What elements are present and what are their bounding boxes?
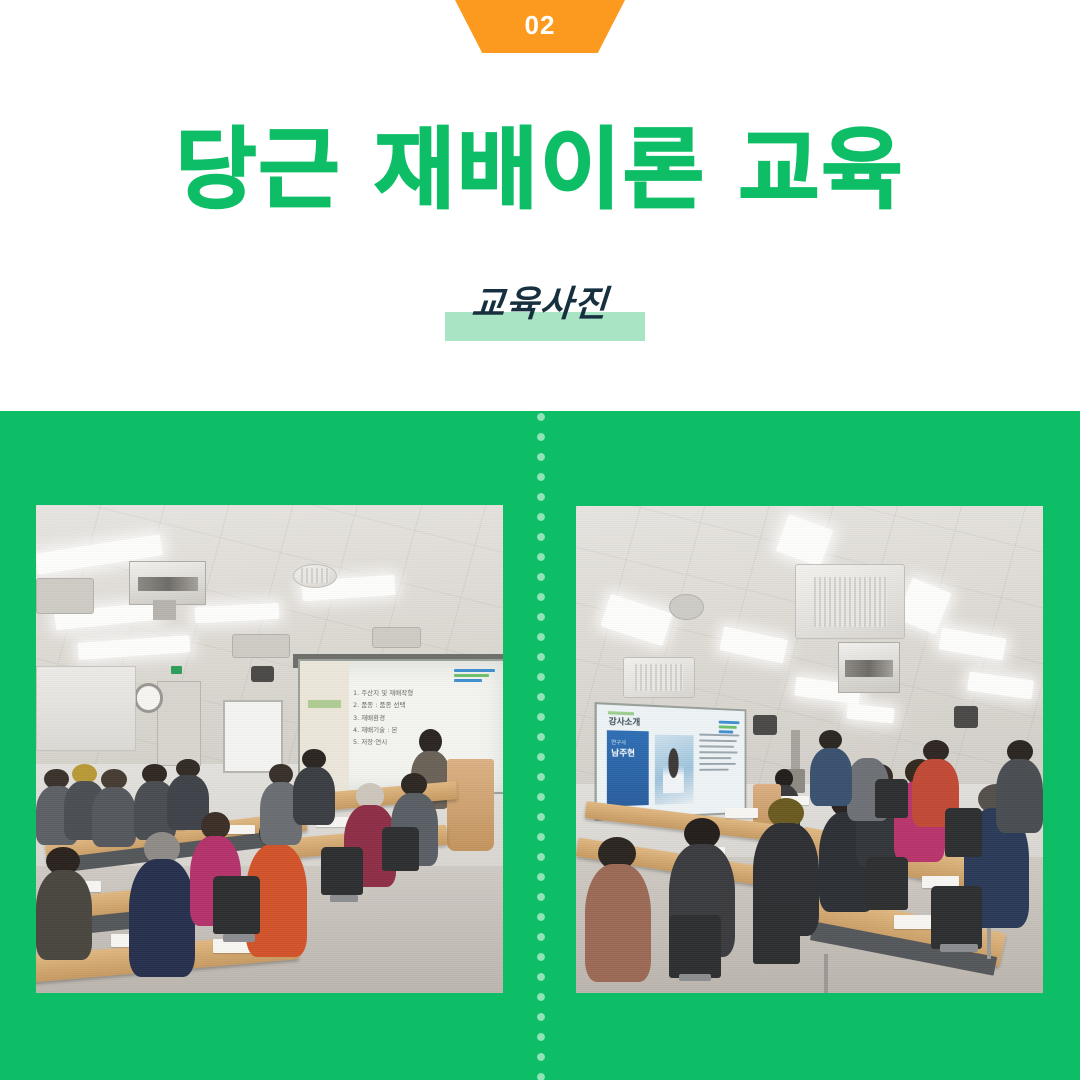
ceiling-speaker-icon [753,715,776,734]
chair [875,779,908,818]
organization-logo-icon [719,720,740,733]
photo-classroom-lecture-wide: 1. 주산지 및 재배작형 2. 품종 : 품종 선택 3. 재배환경 4. 재… [36,505,503,993]
ceiling-vent-icon [669,594,704,620]
header-section: 02 당근 재배이론 교육 교육사진 [0,0,1080,411]
attendee-figure [585,837,650,973]
whiteboard [223,700,283,772]
slide-panel-label: 남주현 [611,746,635,758]
chair [753,905,800,963]
chair [866,857,908,911]
chair [213,876,260,935]
ceiling-ac-icon [623,657,695,698]
organization-logo-icon [454,669,495,685]
chair [321,847,363,896]
chair [945,808,982,857]
slide-title: 강사소개 [609,715,641,728]
attendee-figure [129,832,194,969]
ceiling-vent-icon [372,627,421,648]
exit-sign-icon [171,666,181,674]
slide-bullet-item: 3. 재배환경 [353,712,497,724]
dotted-divider [535,411,547,1080]
wall-clock-icon [134,683,163,712]
ceiling-vent-icon [36,578,94,614]
projection-screen: 강사소개 연구사 남주현 [595,702,747,821]
subtitle-block: 교육사진 [0,275,1080,355]
ceiling-projector-icon [129,561,206,604]
step-number-label: 02 [525,12,556,42]
ceiling-projector-icon [838,642,901,693]
ceiling-speaker-icon [251,666,274,682]
ceiling-ac-icon [293,564,337,588]
chair [669,915,720,978]
attendee-figure [810,730,852,803]
step-number-badge: 02 [455,0,625,53]
chair [931,886,982,949]
subtitle-label: 교육사진 [0,275,1080,327]
slide-bullet-item: 2. 품종 : 품종 선택 [353,699,497,711]
ceiling-ac-icon [795,564,904,639]
attendee-figure [293,749,335,822]
podium [447,759,494,852]
attendee-figure [996,740,1043,828]
slide-bullet-item: 1. 주산지 및 재배작형 [353,687,497,699]
slide-panel-sub: 연구사 [611,739,626,747]
infographic-card: 02 당근 재배이론 교육 교육사진 [0,0,1080,1080]
ceiling-vent-icon [232,634,290,658]
page-title: 당근 재배이론 교육 [0,122,1080,219]
ceiling-speaker-icon [954,706,977,728]
photo-classroom-audience-rear: 강사소개 연구사 남주현 [576,506,1043,993]
attendee-figure [36,847,92,954]
classroom-door [157,681,201,766]
chair [382,827,419,871]
